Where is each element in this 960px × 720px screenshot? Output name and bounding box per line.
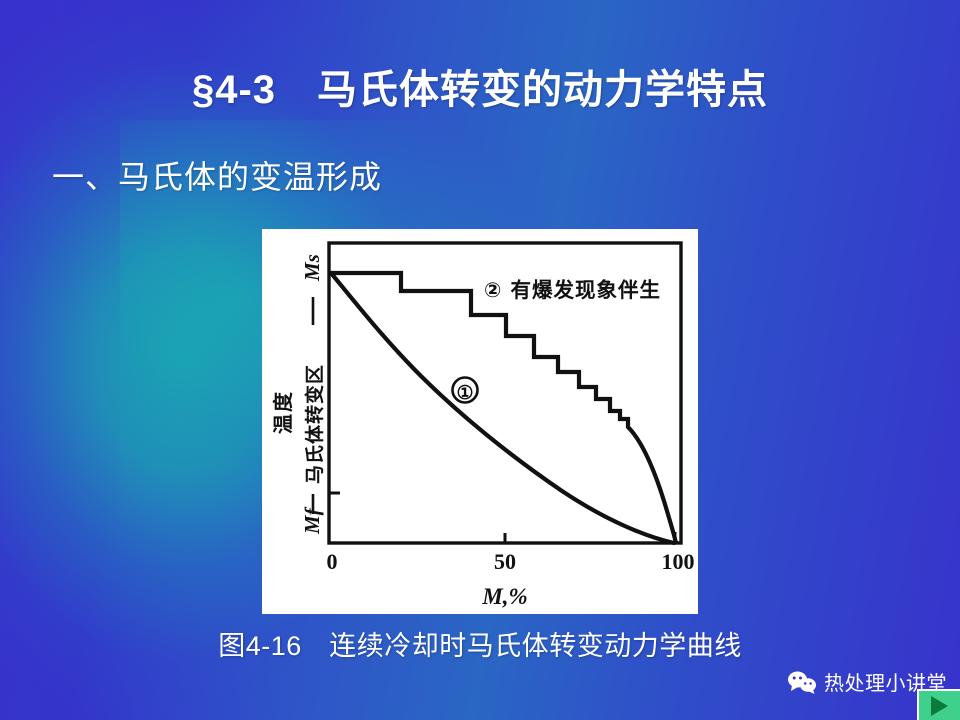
- presentation-slide: §4-3 马氏体转变的动力学特点 一、马氏体的变温形成: [0, 0, 960, 720]
- chart-annotation-2: ② 有爆发现象伴生: [484, 278, 661, 302]
- chart-x-axis-label: M,%: [481, 584, 527, 609]
- chart-y-band-label: 马氏体转变区: [303, 297, 326, 514]
- chart-y-axis-label: 温度: [271, 390, 295, 434]
- play-triangle-icon: [931, 696, 948, 716]
- figure-panel: ① ② 有爆发现象伴生 0 50 100 M,% Ms Mf 马氏: [262, 229, 698, 614]
- figure-caption: 图4-16 连续冷却时马氏体转变动力学曲线: [0, 624, 960, 663]
- chart-annotation-1-label: ①: [456, 383, 473, 404]
- y-label-ms: Ms: [300, 254, 324, 282]
- x-tick-50: 50: [494, 549, 516, 574]
- x-tick-0: 0: [327, 549, 338, 574]
- chart-annotation-1: ①: [453, 378, 478, 405]
- play-button[interactable]: [917, 689, 960, 720]
- martensite-kinetics-chart: ① ② 有爆发现象伴生 0 50 100 M,% Ms Mf 马氏: [262, 229, 698, 614]
- section-subtitle: 一、马氏体的变温形成: [52, 152, 382, 198]
- chart-x-tick-labels: 0 50 100: [327, 549, 695, 574]
- page-title: §4-3 马氏体转变的动力学特点: [0, 57, 960, 115]
- wechat-icon: [787, 670, 817, 694]
- chart-annotation-2-label: ② 有爆发现象伴生: [484, 278, 661, 302]
- chart-tick-marks: [329, 493, 675, 543]
- x-tick-100: 100: [662, 549, 695, 574]
- y-band-text: 马氏体转变区: [303, 364, 326, 484]
- chart-series-step: [331, 273, 676, 543]
